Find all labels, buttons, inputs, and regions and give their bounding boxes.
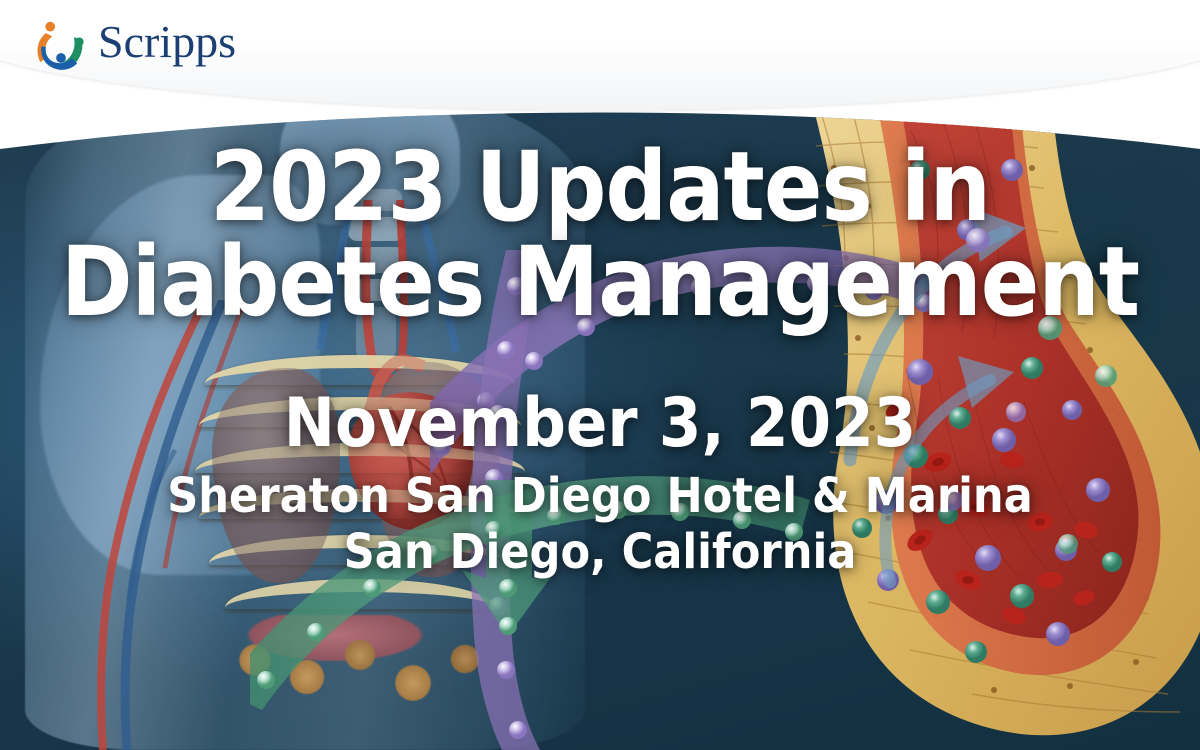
event-city-state: San Diego, California	[0, 526, 1200, 580]
scripps-triad-logo-icon	[34, 18, 88, 72]
hero-text: 2023 Updates in Diabetes Management Nove…	[0, 0, 1200, 580]
event-date: November 3, 2023	[0, 390, 1200, 458]
hero-section: 2023 Updates in Diabetes Management Nove…	[0, 0, 1200, 750]
event-venue: Sheraton San Diego Hotel & Marina	[0, 470, 1200, 524]
title-line-2: Diabetes Management	[40, 235, 1160, 330]
page-title: 2023 Updates in Diabetes Management	[0, 140, 1200, 330]
brand-logo[interactable]: Scripps	[34, 18, 236, 72]
brand-name: Scripps	[98, 19, 236, 71]
header: Scripps	[0, 0, 1200, 120]
event-banner: 2023 Updates in Diabetes Management Nove…	[0, 0, 1200, 750]
title-line-1: 2023 Updates in	[40, 140, 1160, 235]
